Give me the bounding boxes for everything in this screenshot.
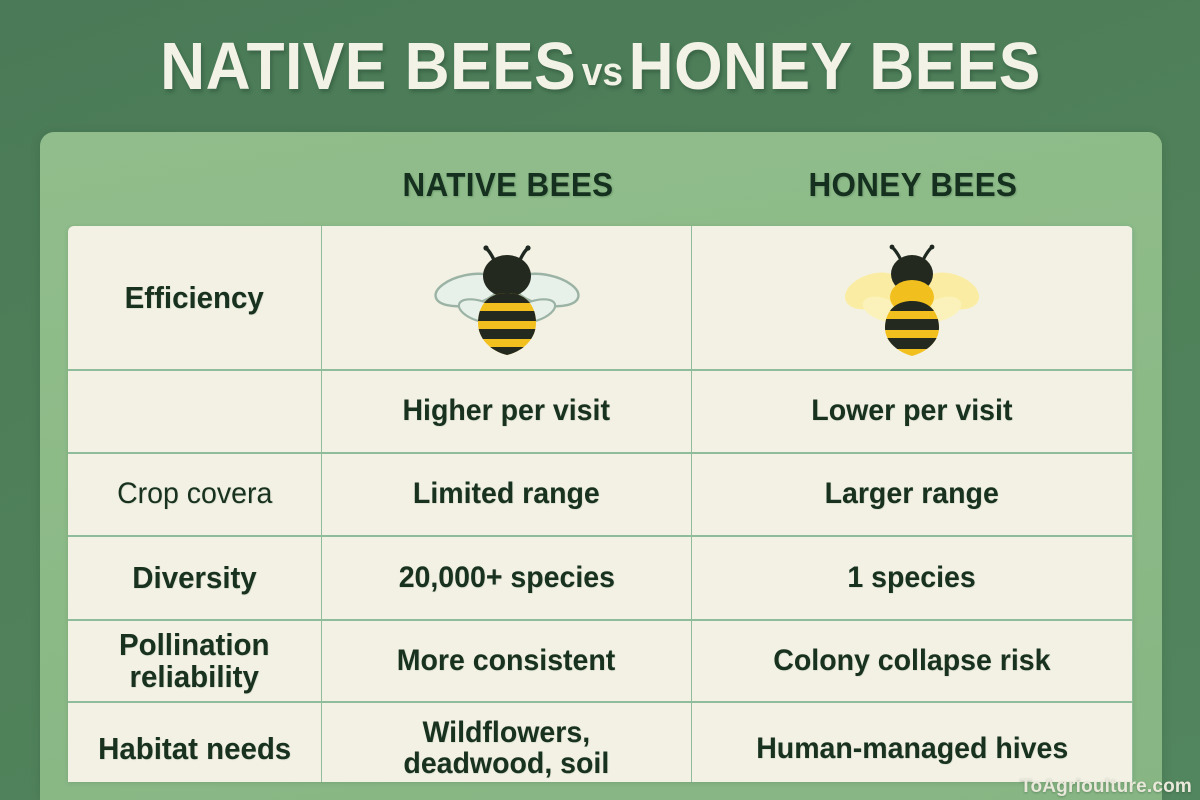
row-label: Efficiency xyxy=(125,282,264,314)
honey-cell xyxy=(692,226,1132,369)
native-cell: 20,000+ species xyxy=(322,537,691,619)
page-title: NATIVE BEESvsHONEY BEES xyxy=(160,33,1041,100)
native-value: More consistent xyxy=(397,646,616,677)
honey-value: 1 species xyxy=(848,563,976,594)
title-bar: NATIVE BEESvsHONEY BEES xyxy=(0,0,1200,132)
honey-cell: Colony collapse risk xyxy=(692,621,1132,701)
honey-bee-icon xyxy=(837,238,987,358)
row-label: Diversity xyxy=(132,562,256,594)
honey-cell: Lower per visit xyxy=(692,371,1132,452)
infographic-canvas: NATIVE BEESvsHONEY BEES NATIVE BEES HONE… xyxy=(0,0,1200,800)
honey-value: Colony collapse risk xyxy=(773,646,1050,677)
native-cell: Limited range xyxy=(322,454,691,535)
native-value: Wildflowers, deadwood, soil xyxy=(404,718,610,779)
table-row: Habitat needs Wildflowers, deadwood, soi… xyxy=(68,703,1133,782)
honey-cell: 1 species xyxy=(692,537,1132,619)
column-header-honey-label: HONEY BEES xyxy=(809,166,1018,204)
table-row: Pollination reliability More consistent … xyxy=(68,621,1133,703)
column-header-native-label: NATIVE BEES xyxy=(403,166,614,204)
native-cell: Higher per visit xyxy=(322,371,691,452)
honey-cell: Larger range xyxy=(692,454,1132,535)
honey-cell: Human-managed hives xyxy=(692,703,1132,782)
row-label-cell: Habitat needs xyxy=(68,703,321,782)
native-value: Limited range xyxy=(413,479,600,510)
comparison-table: Efficiency xyxy=(68,226,1133,782)
column-header-native: NATIVE BEES xyxy=(323,146,693,224)
row-label-cell: Efficiency xyxy=(68,226,321,369)
column-header-row: NATIVE BEES HONEY BEES xyxy=(68,146,1133,224)
row-label: Crop covera xyxy=(117,479,272,510)
table-row: Efficiency xyxy=(68,226,1133,371)
row-label-cell: Pollination reliability xyxy=(68,621,321,701)
table-row: Higher per visit Lower per visit xyxy=(68,371,1133,454)
native-value: Higher per visit xyxy=(403,396,610,427)
row-label: Habitat needs xyxy=(98,733,291,765)
native-cell: More consistent xyxy=(322,621,691,701)
row-label-cell xyxy=(68,371,321,452)
column-header-honey: HONEY BEES xyxy=(693,146,1133,224)
title-right: HONEY BEES xyxy=(628,29,1040,104)
native-bee-icon xyxy=(432,238,582,358)
row-label-cell: Crop covera xyxy=(68,454,321,535)
watermark: ToAgrioulture.com xyxy=(1020,776,1192,798)
title-left: NATIVE BEES xyxy=(160,29,576,104)
native-cell xyxy=(322,226,691,369)
row-label: Pollination reliability xyxy=(119,629,270,692)
native-cell: Wildflowers, deadwood, soil xyxy=(322,703,691,782)
row-label-cell: Diversity xyxy=(68,537,321,619)
honey-value: Larger range xyxy=(825,479,999,510)
title-vs: vs xyxy=(576,50,629,94)
honey-value: Human-managed hives xyxy=(756,734,1068,765)
table-row: Diversity 20,000+ species 1 species xyxy=(68,537,1133,621)
honey-value: Lower per visit xyxy=(811,396,1012,427)
column-header-spacer xyxy=(68,146,323,224)
native-value: 20,000+ species xyxy=(398,563,614,594)
table-row: Crop covera Limited range Larger range xyxy=(68,454,1133,537)
